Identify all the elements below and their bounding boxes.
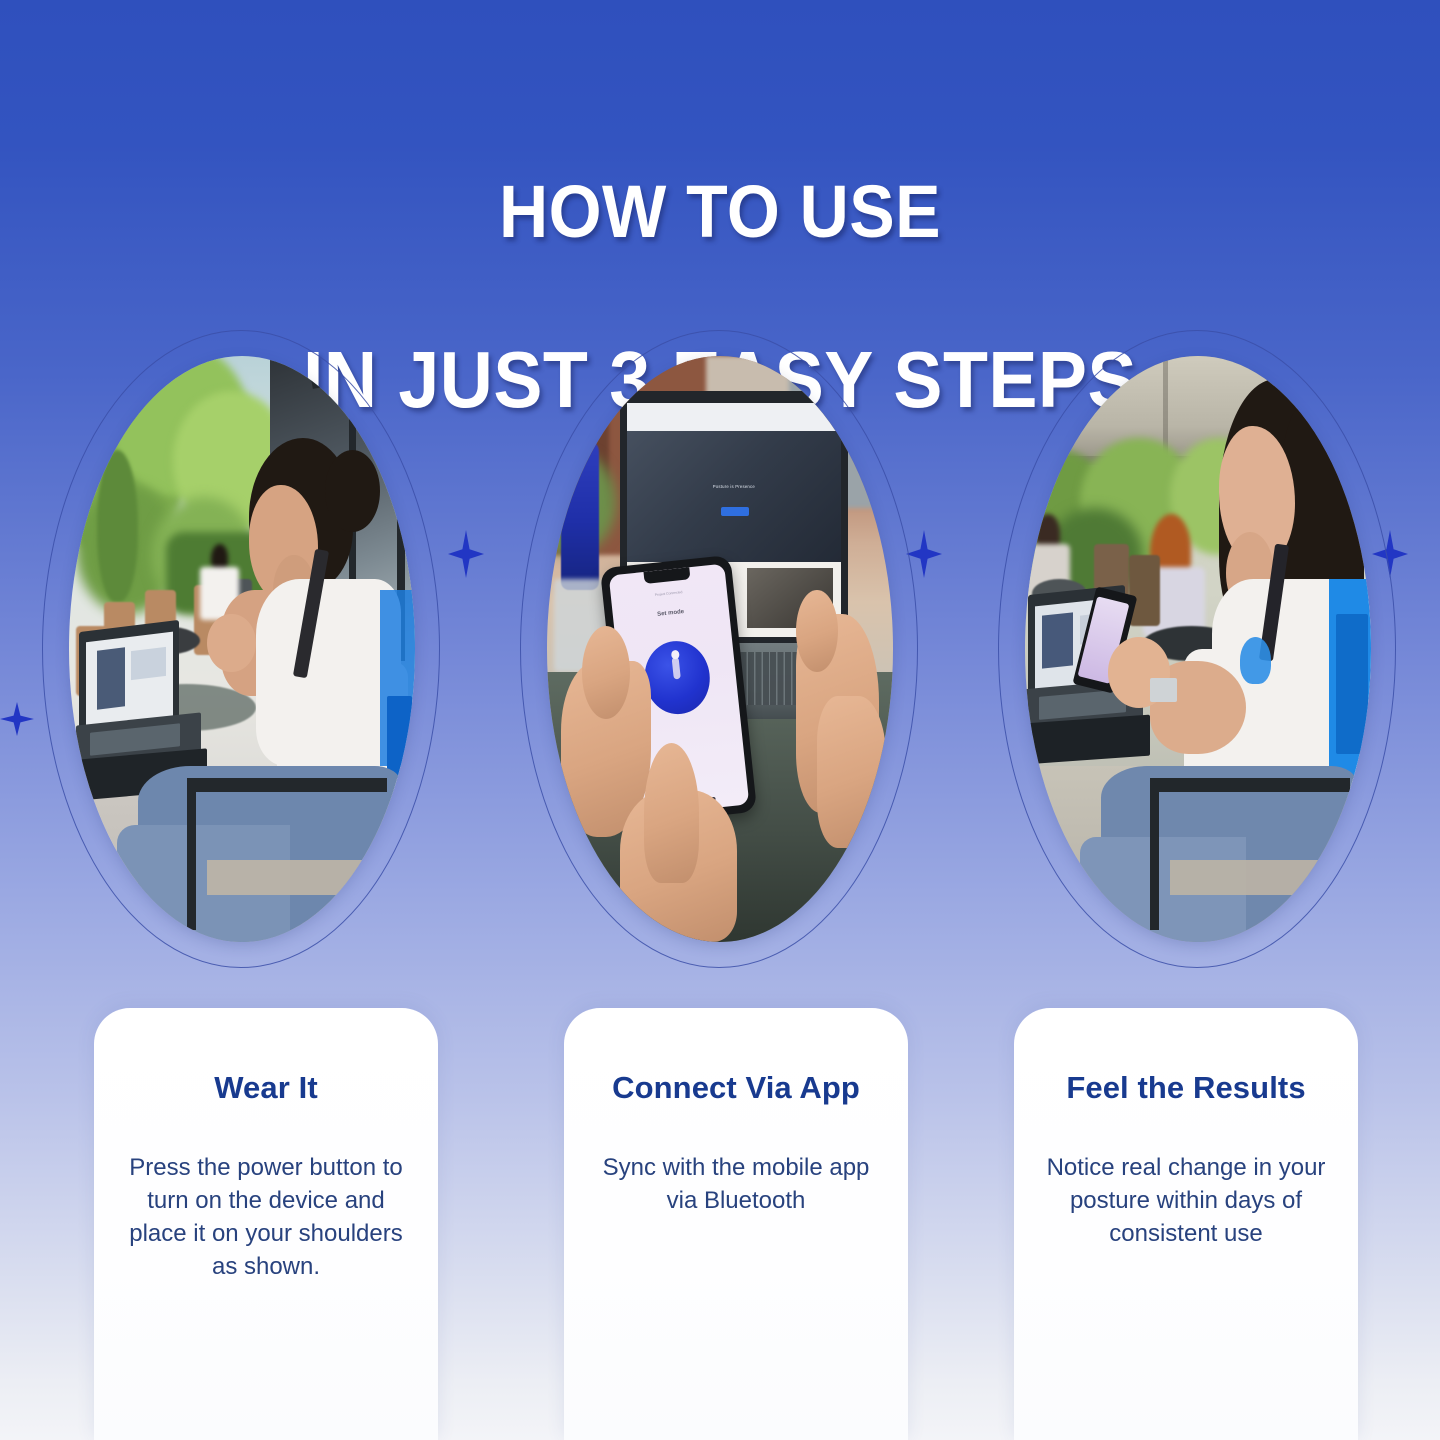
step-3-photo: [1025, 356, 1371, 942]
phone-app-subtitle: Project Connected: [611, 585, 726, 601]
step-3-title: Feel the Results: [1014, 1070, 1358, 1106]
step-card-3[interactable]: Feel the Results Notice real change in y…: [1014, 1008, 1358, 1440]
step-2-body: Sync with the mobile app via Bluetooth: [588, 1151, 884, 1217]
steps-text-row: Wear It Press the power button to turn o…: [0, 1008, 1440, 1440]
headline-line-1: HOW TO USE: [58, 170, 1383, 254]
laptop-hero-text: Posture is Presence: [627, 484, 842, 489]
step-3-body: Notice real change in your posture withi…: [1038, 1151, 1334, 1250]
step-2-photo: Posture is Presence Why We Created Orlec…: [547, 356, 893, 942]
phone-app-dial: [641, 638, 713, 717]
step-3-image-frame: [998, 330, 1398, 970]
step-1-title: Wear It: [94, 1070, 438, 1106]
step-2-image-frame: Posture is Presence Why We Created Orlec…: [520, 330, 920, 970]
step-1-body: Press the power button to turn on the de…: [118, 1151, 414, 1283]
step-card-2[interactable]: Connect Via App Sync with the mobile app…: [564, 1008, 908, 1440]
four-point-sparkle-icon: [0, 702, 34, 736]
step-2-title: Connect Via App: [564, 1070, 908, 1106]
step-1-photo: [69, 356, 415, 942]
phone-app-title: Set mode: [613, 604, 729, 622]
promo-graphic: HOW TO USE IN JUST 3 EASY STEPS: [0, 0, 1440, 1440]
steps-image-row: Posture is Presence Why We Created Orlec…: [0, 330, 1440, 970]
four-point-sparkle-icon: [448, 530, 484, 578]
step-1-image-frame: [42, 330, 442, 970]
step-card-1[interactable]: Wear It Press the power button to turn o…: [94, 1008, 438, 1440]
